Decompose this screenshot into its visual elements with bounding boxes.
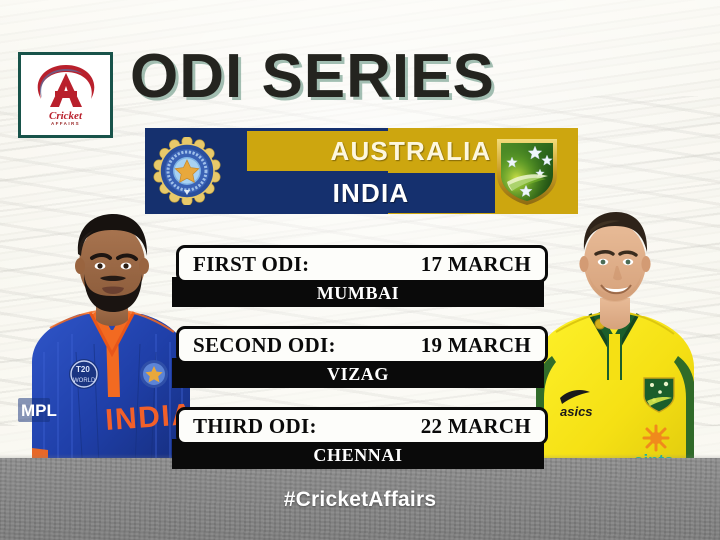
match-label: THIRD ODI: <box>193 414 317 439</box>
cricket-affairs-logo: Cricket AFFAIRS <box>18 52 113 138</box>
bcci-logo-icon <box>153 137 221 205</box>
match-venue: CHENNAI <box>313 445 402 466</box>
match-date: 19 MARCH <box>421 333 531 358</box>
match-row[interactable]: SECOND ODI: 19 MARCH VIZAG <box>176 326 548 388</box>
page-title: ODI SERIES <box>130 42 600 114</box>
cricket-australia-shield-icon <box>494 135 560 207</box>
match-row[interactable]: FIRST ODI: 17 MARCH MUMBAI <box>176 245 548 307</box>
odi-series-poster: Cricket AFFAIRS ODI SERIES <box>0 0 720 540</box>
match-header: SECOND ODI: 19 MARCH <box>176 326 548 364</box>
match-venue: MUMBAI <box>317 283 400 304</box>
match-date: 22 MARCH <box>421 414 531 439</box>
match-label: SECOND ODI: <box>193 333 336 358</box>
match-label: FIRST ODI: <box>193 252 309 277</box>
svg-text:WORLD: WORLD <box>73 378 96 384</box>
hashtag-credit: #CricketAffairs <box>0 488 720 512</box>
match-header: THIRD ODI: 22 MARCH <box>176 407 548 445</box>
team-australia-label: AUSTRALIA <box>330 136 491 167</box>
logo-word-secondary: AFFAIRS <box>51 121 80 127</box>
svg-text:MPL: MPL <box>21 401 57 420</box>
team-india-label: INDIA <box>333 178 410 209</box>
match-row[interactable]: THIRD ODI: 22 MARCH CHENNAI <box>176 407 548 469</box>
match-schedule: FIRST ODI: 17 MARCH MUMBAI SECOND ODI: 1… <box>176 245 548 488</box>
logo-a-mark-icon <box>33 63 99 113</box>
svg-text:T20: T20 <box>76 365 90 374</box>
match-header: FIRST ODI: 17 MARCH <box>176 245 548 283</box>
svg-text:asics: asics <box>560 404 593 419</box>
team-india-bar: INDIA <box>247 173 495 213</box>
match-date: 17 MARCH <box>421 252 531 277</box>
match-venue: VIZAG <box>327 364 389 385</box>
